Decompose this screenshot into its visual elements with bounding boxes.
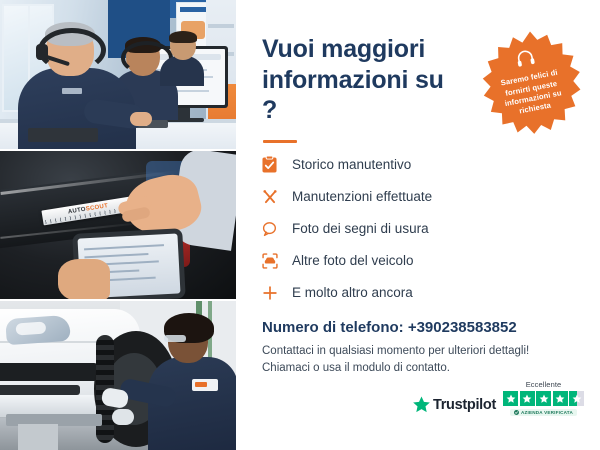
feature-list: Storico manutentivo Manutenzioni effettu… bbox=[262, 155, 578, 303]
feature-item-foto-usura: Foto dei segni di usura bbox=[262, 219, 578, 239]
colleague-far-hair bbox=[169, 31, 197, 43]
clipboard-check-icon bbox=[262, 155, 284, 175]
call-center-photo bbox=[0, 0, 236, 149]
trustpilot-rating: Eccellente AZIENDA VERIFICATA bbox=[503, 380, 584, 416]
mechanic-glove-2 bbox=[112, 409, 134, 425]
mechanic bbox=[148, 313, 236, 450]
trustpilot-star-icon bbox=[413, 396, 430, 413]
phone-number[interactable]: Numero di telefono: +390238583852 bbox=[262, 319, 578, 336]
tablet-row bbox=[84, 253, 148, 258]
photo-column: AUTOSCOUT bbox=[0, 0, 236, 450]
title-divider bbox=[263, 140, 297, 143]
bumper-inspection-photo: AUTOSCOUT bbox=[0, 149, 236, 300]
colleague-far-body bbox=[160, 56, 204, 86]
availability-badge: Saremo felici di fornirti queste informa… bbox=[478, 30, 582, 134]
star-half bbox=[569, 391, 584, 406]
verified-label: AZIENDA VERIFICATA bbox=[521, 410, 573, 415]
contact-line-1: Contattaci in qualsiasi momento per ulte… bbox=[262, 343, 578, 361]
star-filled bbox=[553, 391, 568, 406]
contact-line-2: Chiamaci o usa il modulo di contatto. bbox=[262, 360, 578, 378]
feature-item-altre-foto: Altre foto del veicolo bbox=[262, 251, 578, 271]
promo-banner: AUTOSCOUT bbox=[0, 0, 600, 450]
trustpilot-wordmark: Trustpilot bbox=[433, 397, 496, 413]
star-filled bbox=[536, 391, 551, 406]
page-title: Vuoi maggiori informazioni su ? bbox=[262, 34, 462, 126]
front-keyboard bbox=[28, 128, 98, 142]
plus-icon bbox=[262, 283, 284, 303]
uniform-patch bbox=[192, 379, 218, 391]
feature-item-altro-ancora: E molto altro ancora bbox=[262, 283, 578, 303]
operator-hand bbox=[130, 112, 152, 126]
headlight bbox=[5, 315, 71, 345]
car-frame-icon bbox=[262, 251, 284, 271]
tools-cross-icon bbox=[262, 187, 284, 207]
feature-item-manutenzioni: Manutenzioni effettuate bbox=[262, 187, 578, 207]
feature-label: E molto altro ancora bbox=[292, 285, 413, 300]
feature-label: Altre foto del veicolo bbox=[292, 253, 414, 268]
lift-post bbox=[18, 424, 58, 450]
star-filled bbox=[520, 391, 535, 406]
trustpilot-logo: Trustpilot bbox=[413, 396, 496, 416]
feature-label: Foto dei segni di usura bbox=[292, 221, 429, 236]
feature-item-storico: Storico manutentivo bbox=[262, 155, 578, 175]
tablet-row bbox=[84, 244, 164, 250]
content-panel: Vuoi maggiori informazioni su ? Saremo f… bbox=[236, 0, 600, 450]
operator-headset bbox=[38, 28, 106, 72]
front-grille bbox=[0, 363, 98, 381]
feature-label: Manutenzioni effettuate bbox=[292, 189, 432, 204]
starburst-shape bbox=[478, 30, 582, 134]
trustpilot-widget[interactable]: Trustpilot Eccellente AZIENDA VERIFICA bbox=[413, 380, 584, 416]
star-filled bbox=[503, 391, 518, 406]
safety-glasses bbox=[164, 335, 186, 342]
star-rating bbox=[503, 391, 584, 406]
verified-check-icon bbox=[514, 410, 519, 415]
search-bubble-icon bbox=[262, 219, 284, 239]
feature-label: Storico manutentivo bbox=[292, 157, 411, 172]
lower-grille bbox=[0, 385, 80, 395]
colleague-far bbox=[160, 32, 204, 80]
wheel-inspection-photo bbox=[0, 299, 236, 450]
polo-logo bbox=[62, 88, 82, 94]
shelf-line bbox=[208, 24, 234, 28]
rating-word: Eccellente bbox=[526, 380, 562, 389]
verified-badge: AZIENDA VERIFICATA bbox=[510, 409, 577, 416]
inspector-hand-2 bbox=[58, 259, 110, 300]
